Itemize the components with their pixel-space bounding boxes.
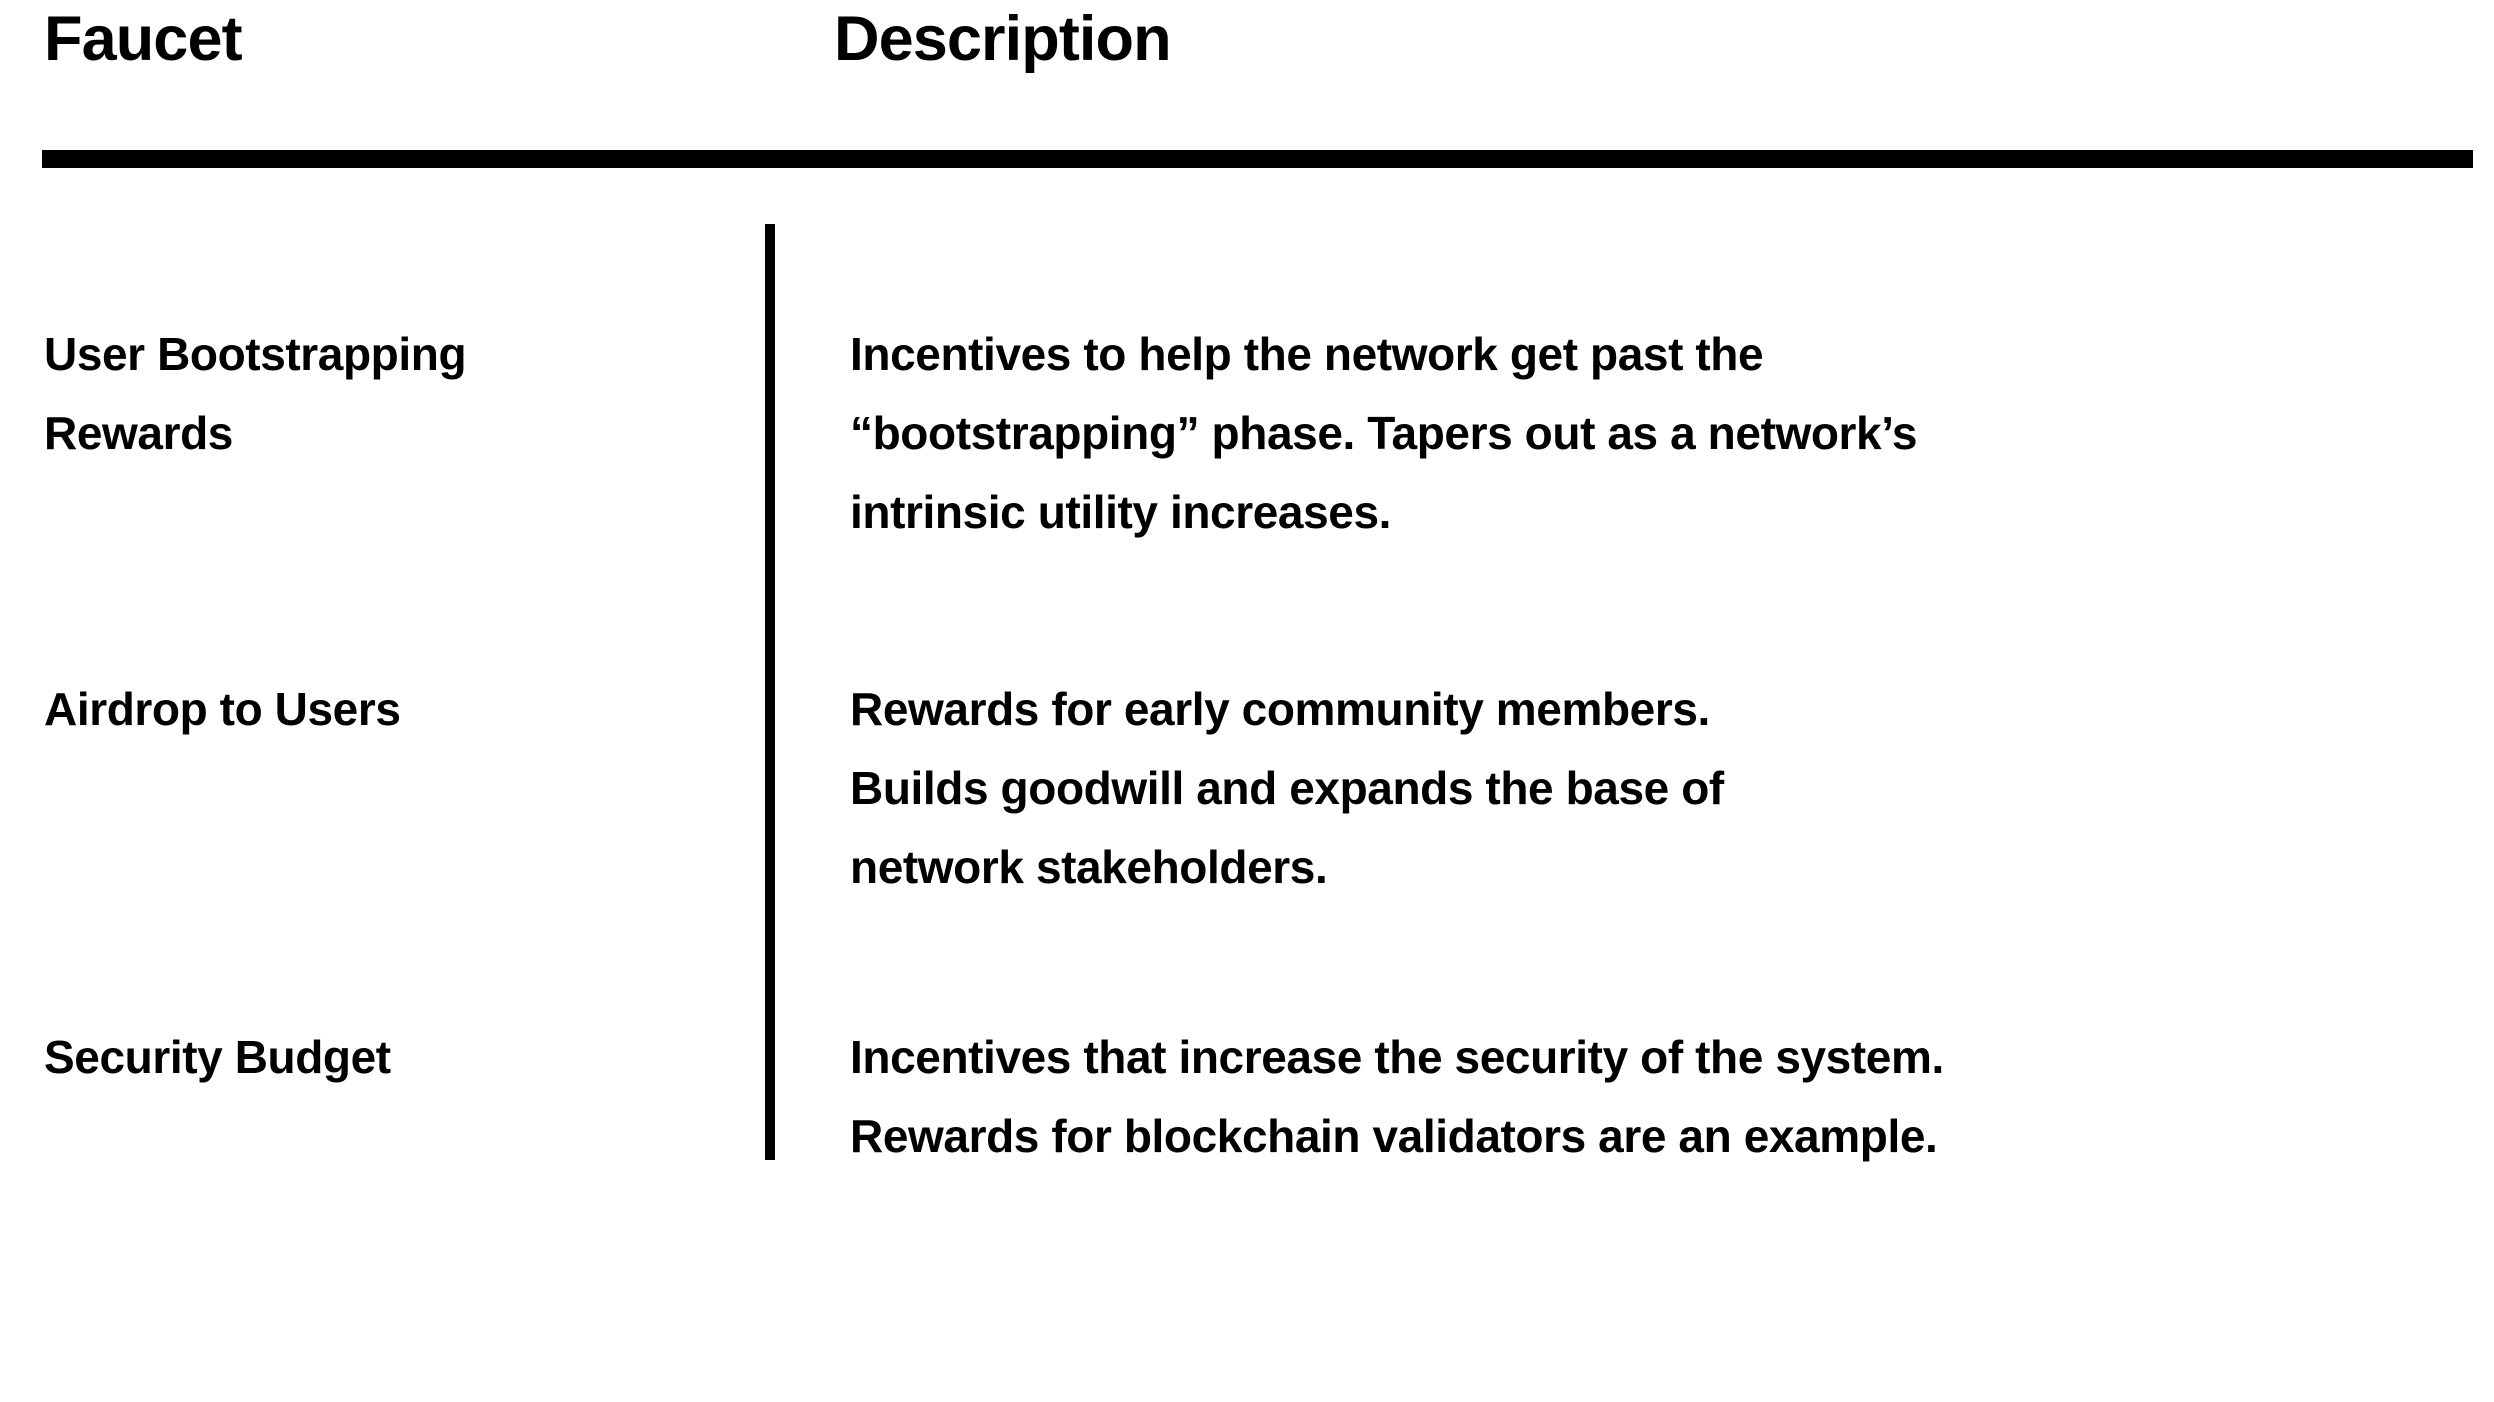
cell-description-text: Incentives that increase the security of… [850, 1018, 2470, 1176]
description-line: intrinsic utility increases. [850, 473, 2470, 552]
cell-faucet-name: Security Budget [44, 1018, 734, 1097]
faucet-name-line: Rewards [44, 394, 734, 473]
description-line: Incentives to help the network get past … [850, 315, 2470, 394]
description-line: Rewards for early community members. [850, 670, 2470, 749]
faucet-name-line: User Bootstrapping [44, 315, 734, 394]
faucet-name-line: Security Budget [44, 1018, 734, 1097]
cell-faucet-name: Airdrop to Users [44, 670, 734, 749]
faucet-name-line: Airdrop to Users [44, 670, 734, 749]
faucet-description-table: Faucet Description User Bootstrapping Re… [0, 0, 2494, 1402]
description-line: Builds goodwill and expands the base of [850, 749, 2470, 828]
table-body: User Bootstrapping Rewards Incentives to… [0, 0, 2494, 1402]
cell-description-text: Incentives to help the network get past … [850, 315, 2470, 552]
description-line: Rewards for blockchain validators are an… [850, 1097, 2470, 1176]
description-line: network stakeholders. [850, 828, 2470, 907]
cell-description-text: Rewards for early community members. Bui… [850, 670, 2470, 907]
description-line: Incentives that increase the security of… [850, 1018, 2470, 1097]
description-line: “bootstrapping” phase. Tapers out as a n… [850, 394, 2470, 473]
cell-faucet-name: User Bootstrapping Rewards [44, 315, 734, 473]
